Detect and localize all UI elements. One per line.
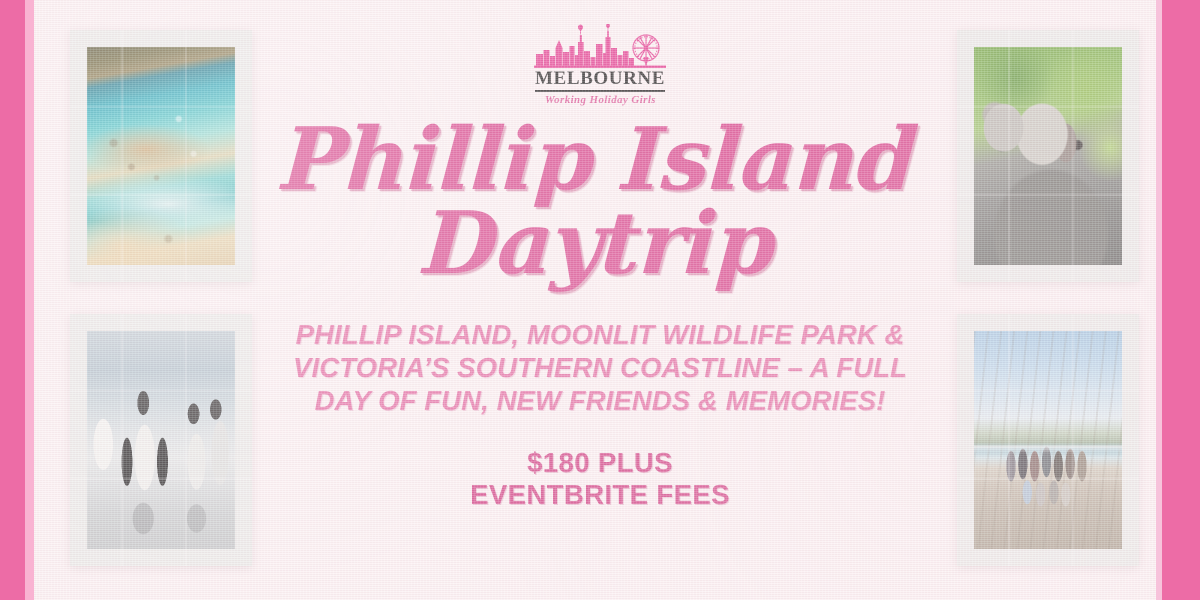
brand-logo: MELBOURNE Working Holiday Girls — [526, 24, 674, 106]
photo-group — [974, 331, 1122, 549]
photo-frame-coastline — [70, 30, 252, 282]
subtitle-line-2: VICTORIA’S SOUTHERN COASTLINE – A FULL — [293, 351, 907, 384]
poster-content: MELBOURNE Working Holiday Girls Phillip … — [260, 0, 940, 600]
price-amount: $180 PLUS — [470, 447, 730, 479]
photo-frame-koala — [957, 30, 1139, 282]
photo-frame-group — [957, 314, 1139, 566]
logo-tagline: Working Holiday Girls — [544, 95, 655, 106]
price-fees-note: EVENTBRITE FEES — [470, 479, 730, 511]
photo-koala — [974, 47, 1122, 265]
melbourne-skyline-ferris-wheel-icon — [534, 24, 666, 68]
logo-wordmark: MELBOURNE — [535, 69, 665, 92]
page-title: Phillip Island Daytrip — [283, 120, 917, 284]
photo-frame-penguins — [70, 314, 252, 566]
photo-penguins — [87, 331, 235, 549]
photo-coastline — [87, 47, 235, 265]
headline-line-2: Daytrip — [280, 204, 919, 284]
subtitle-line-1: PHILLIP ISLAND, MOONLIT WILDLIFE PARK & — [293, 318, 907, 351]
price-block: $180 PLUS EVENTBRITE FEES — [470, 447, 730, 512]
event-poster: MELBOURNE Working Holiday Girls Phillip … — [0, 0, 1200, 600]
subtitle-line-3: DAY OF FUN, NEW FRIENDS & MEMORIES! — [293, 384, 907, 417]
headline-line-1: Phillip Island — [280, 120, 919, 200]
border-left-inner — [25, 0, 34, 600]
border-right-outer — [1162, 0, 1200, 600]
border-left-outer — [0, 0, 25, 600]
event-description: PHILLIP ISLAND, MOONLIT WILDLIFE PARK & … — [293, 318, 907, 417]
